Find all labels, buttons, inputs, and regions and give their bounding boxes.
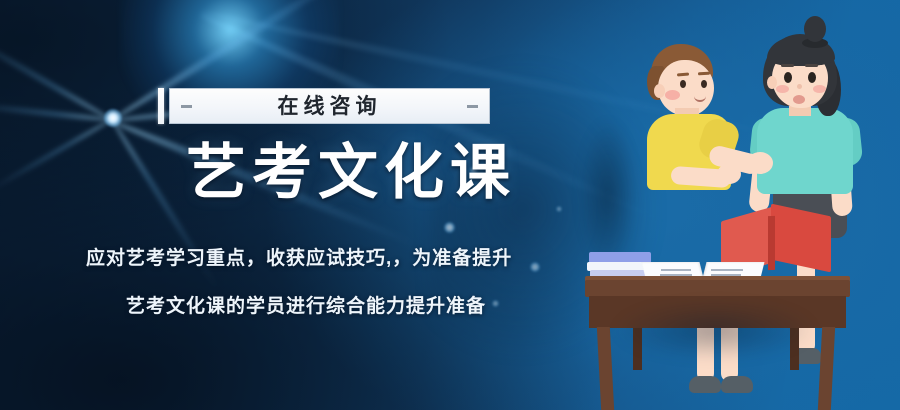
girl-mouth (793, 95, 805, 104)
badge-label: 在线咨询 (192, 96, 467, 117)
badge-box: 在线咨询 (169, 88, 490, 124)
boy-eye (680, 80, 686, 88)
book-text-line (661, 269, 691, 271)
girl-nose (797, 84, 802, 89)
promo-banner: 在线咨询 艺考文化课 应对艺考学习重点，收获应试技巧,，为准备提升 艺考文化课的… (0, 0, 900, 410)
red-book-spine (768, 216, 775, 270)
girl-hair-bun (804, 16, 826, 42)
subtitle-line-1: 应对艺考学习重点，收获应试技巧,，为准备提升 (86, 243, 512, 270)
girl-shirt (757, 108, 853, 194)
subtitle-line-2: 艺考文化课的学员进行综合能力提升准备 (126, 291, 486, 318)
page-title: 艺考文化课 (186, 140, 516, 206)
girl-eyebrow (781, 64, 794, 67)
badge-left-dash-icon (181, 105, 192, 108)
wall-shadow (579, 120, 637, 270)
badge-right-dash-icon (467, 105, 478, 108)
girl-eye (784, 72, 792, 83)
badge-left-bar (158, 88, 164, 124)
banner-content: 在线咨询 艺考文化课 应对艺考学习重点，收获应试技巧,，为准备提升 艺考文化课的… (0, 0, 600, 410)
red-book-right-page (771, 204, 831, 273)
book-text-line (711, 269, 743, 271)
girl-eyebrow (805, 64, 818, 67)
floor-shadow (615, 300, 815, 360)
girl-cheek (776, 85, 789, 93)
boy-hand (747, 152, 773, 174)
girl-cheek (813, 85, 826, 93)
boy-shoe (721, 376, 753, 393)
girl-eye (808, 72, 816, 83)
boy-hand (717, 164, 741, 184)
boy-shoe (689, 376, 721, 393)
boy-cheek (665, 90, 680, 100)
boy-eye (701, 80, 707, 88)
desk-front-leg (597, 327, 614, 410)
desk-top (585, 280, 850, 297)
consultation-badge[interactable]: 在线咨询 (158, 88, 490, 124)
boy-ear (654, 84, 665, 98)
desk-front-leg (818, 327, 835, 410)
students-illustration (575, 0, 900, 410)
